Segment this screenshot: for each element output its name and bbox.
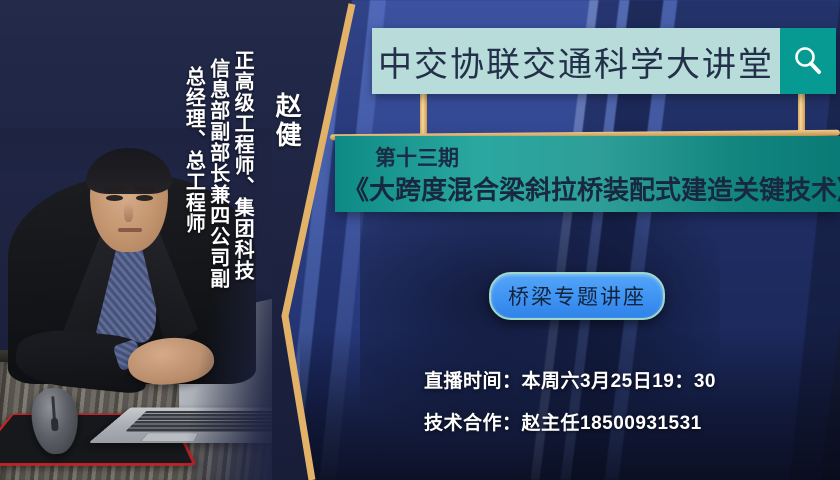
search-icon <box>791 44 825 78</box>
contact-text: 技术合作：赵主任18500931531 <box>424 408 702 435</box>
episode-number: 第十三期 <box>375 142 459 172</box>
sign-title: 中交协联交通科学大讲堂 <box>378 37 774 86</box>
speaker-credentials: 赵健 正高级工程师、集团科技 信息部副部长兼四公司副 总经理、总工程师 <box>182 14 306 314</box>
speaker-title-column-1: 正高级工程师、集团科技 <box>231 50 253 281</box>
lecture-title: 《大跨度混合梁斜拉桥装配式建造关键技术》 <box>343 170 838 207</box>
program-sign: 中交协联交通科学大讲堂 <box>372 28 836 94</box>
speaker-title-column-3: 总经理、总工程师 <box>182 66 204 234</box>
background-bottom-shade <box>300 330 840 480</box>
search-icon-panel[interactable] <box>780 28 836 94</box>
sign-post-left <box>420 94 427 138</box>
topic-badge-label: 桥梁专题讲座 <box>508 281 646 311</box>
live-time-text: 直播时间：本周六3月25日19：30 <box>424 366 716 393</box>
lecture-title-panel: 第十三期 《大跨度混合梁斜拉桥装配式建造关键技术》 <box>335 136 840 212</box>
speaker-title-column-2: 信息部副部长兼四公司副 <box>206 58 228 289</box>
topic-badge[interactable]: 桥梁专题讲座 <box>489 272 665 320</box>
sign-board: 中交协联交通科学大讲堂 <box>372 28 780 94</box>
speaker-name: 赵健 <box>269 92 306 150</box>
poster: 赵健 正高级工程师、集团科技 信息部副部长兼四公司副 总经理、总工程师 中交协联… <box>0 0 840 480</box>
